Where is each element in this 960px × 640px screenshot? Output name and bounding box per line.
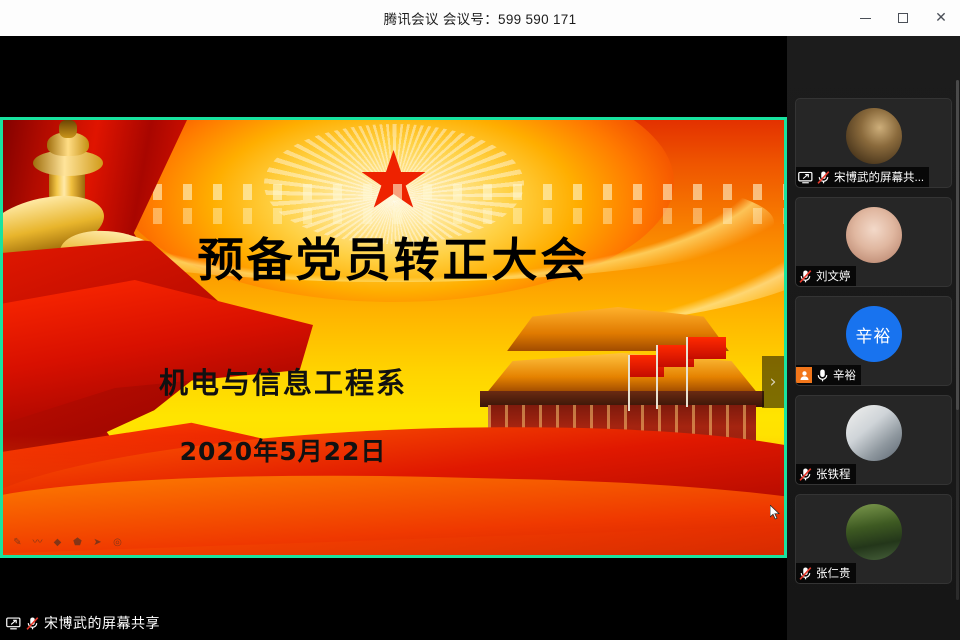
participant-tile[interactable]: 宋博武的屏幕共... (795, 98, 952, 188)
microphone-icon (815, 368, 830, 383)
more-options-icon[interactable]: ◎ (111, 536, 124, 549)
minimize-button[interactable] (846, 0, 884, 36)
avatar (846, 504, 902, 560)
window-controls: ✕ (846, 0, 960, 36)
huabiao-lion (59, 120, 77, 138)
slide-date: 2020年5月22日 (13, 432, 553, 468)
microphone-muted-icon (25, 616, 40, 631)
participant-panel[interactable]: 宋博武的屏幕共... 刘文婷 辛裕 (787, 36, 960, 640)
microphone-muted-icon (798, 566, 813, 581)
screen-share-icon (6, 616, 21, 631)
participant-name-bar: 张铁程 (796, 464, 856, 484)
screen-share-icon (798, 170, 813, 185)
collapse-panel-chevron-icon[interactable]: › (762, 356, 784, 408)
maximize-button[interactable] (884, 0, 922, 36)
pointer-icon[interactable]: ➤ (91, 536, 104, 549)
close-button[interactable]: ✕ (922, 0, 960, 36)
avatar (846, 108, 902, 164)
participant-name-bar: 宋博武的屏幕共... (796, 167, 929, 187)
participant-name: 张仁贵 (816, 565, 851, 581)
eraser-icon[interactable]: ◆ (51, 536, 64, 549)
host-badge (796, 367, 812, 383)
close-icon: ✕ (935, 11, 947, 25)
participant-name: 张铁程 (816, 466, 851, 482)
person-icon (799, 370, 810, 381)
microphone-muted-icon (798, 467, 813, 482)
ppt-annotation-toolbar[interactable]: ✎ 〰 ◆ ⬟ ➤ ◎ (11, 536, 124, 549)
presentation-slide[interactable]: 中华人民共和国万岁 预备党员转正大会 机电与信息工程系 2020年5月22日 ✎ (3, 120, 784, 555)
participant-tile[interactable]: 张铁程 (795, 395, 952, 485)
participant-name-bar: 辛裕 (796, 365, 861, 385)
slide-title: 预备党员转正大会 (3, 224, 784, 290)
cursor-arrow-icon (770, 505, 781, 520)
share-status-label: 宋博武的屏幕共享 (44, 613, 160, 633)
minimize-icon (860, 18, 871, 19)
panel-scrollbar-thumb[interactable] (956, 80, 959, 410)
participant-tile[interactable]: 刘文婷 (795, 197, 952, 287)
maximize-icon (898, 13, 908, 23)
avatar (846, 405, 902, 461)
microphone-muted-icon (816, 170, 831, 185)
avatar (846, 207, 902, 263)
participant-tile[interactable]: 张仁贵 (795, 494, 952, 584)
avatar-initials: 辛裕 (846, 306, 902, 362)
participant-name-bar: 张仁贵 (796, 563, 856, 583)
microphone-muted-icon (798, 269, 813, 284)
shared-screen-stage[interactable]: 中华人民共和国万岁 预备党员转正大会 机电与信息工程系 2020年5月22日 ✎ (0, 36, 787, 640)
tencent-meeting-window: 腾讯会议 会议号：599 590 171 ✕ (0, 0, 960, 640)
avatar: 辛裕 (846, 306, 902, 362)
window-title: 腾讯会议 会议号：599 590 171 (384, 8, 577, 28)
participant-name: 刘文婷 (816, 268, 851, 284)
slide-subtitle: 机电与信息工程系 (13, 360, 553, 402)
share-status-bar: 宋博武的屏幕共享 (0, 606, 787, 640)
participant-name: 宋博武的屏幕共... (834, 169, 924, 185)
highlighter-icon[interactable]: 〰 (31, 536, 44, 549)
title-bar: 腾讯会议 会议号：599 590 171 ✕ (0, 0, 960, 36)
participant-tile[interactable]: 辛裕 辛裕 (795, 296, 952, 386)
ink-color-icon[interactable]: ⬟ (71, 536, 84, 549)
share-border-bottom (0, 555, 787, 558)
mouse-cursor (770, 505, 781, 520)
red-flag-3 (688, 337, 726, 359)
participant-name-bar: 刘文婷 (796, 266, 856, 286)
participant-name: 辛裕 (833, 367, 856, 383)
pen-icon[interactable]: ✎ (11, 536, 24, 549)
share-frame: 中华人民共和国万岁 预备党员转正大会 机电与信息工程系 2020年5月22日 ✎ (0, 117, 787, 558)
